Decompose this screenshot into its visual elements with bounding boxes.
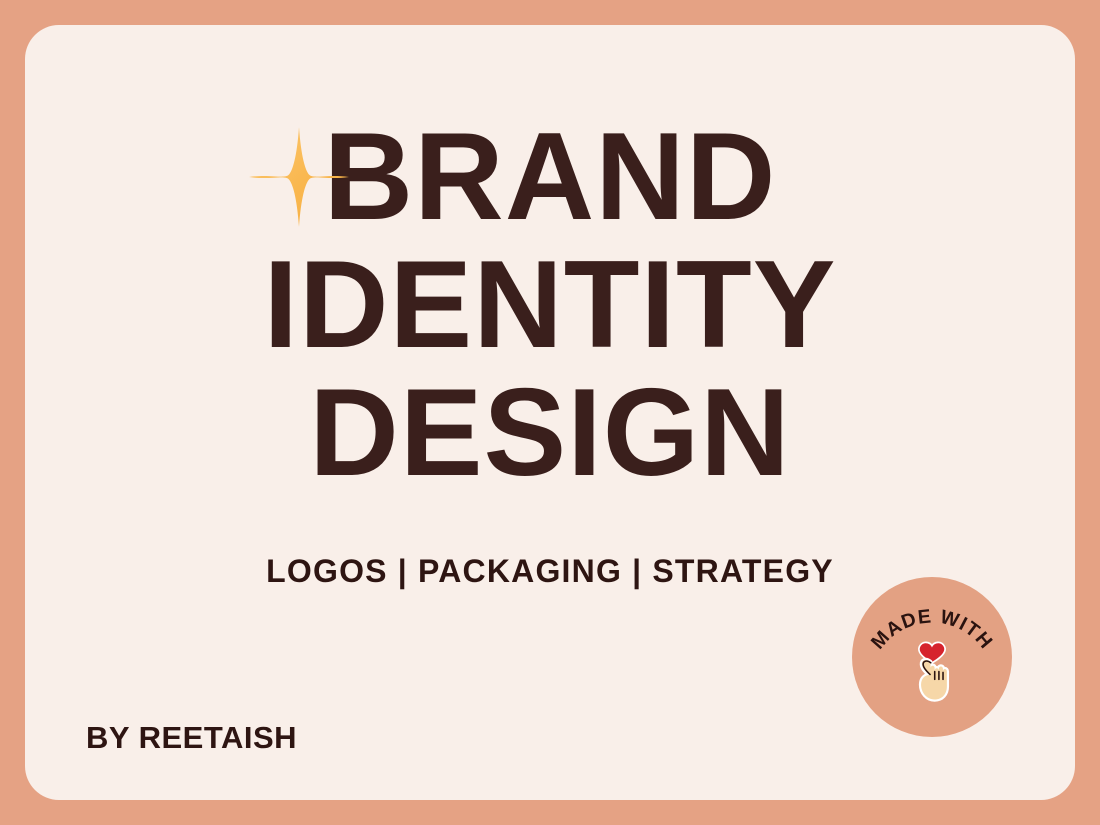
made-with-badge: MADE WITH: [852, 577, 1012, 737]
headline-block: BRAND IDENTITY DESIGN: [25, 113, 1075, 497]
headline-line-1-wrapper: BRAND: [25, 113, 1075, 241]
poster-canvas: BRAND IDENTITY DESIGN LOGOS | PACKAGING …: [0, 0, 1100, 825]
byline-author: BY REETAISH: [86, 720, 297, 756]
poster-card: BRAND IDENTITY DESIGN LOGOS | PACKAGING …: [25, 25, 1075, 800]
headline-line-3: DESIGN: [25, 369, 1075, 497]
headline-line-2: IDENTITY: [25, 241, 1075, 369]
finger-heart-emoji: [852, 633, 1012, 703]
headline-line-1: BRAND: [25, 113, 1075, 241]
